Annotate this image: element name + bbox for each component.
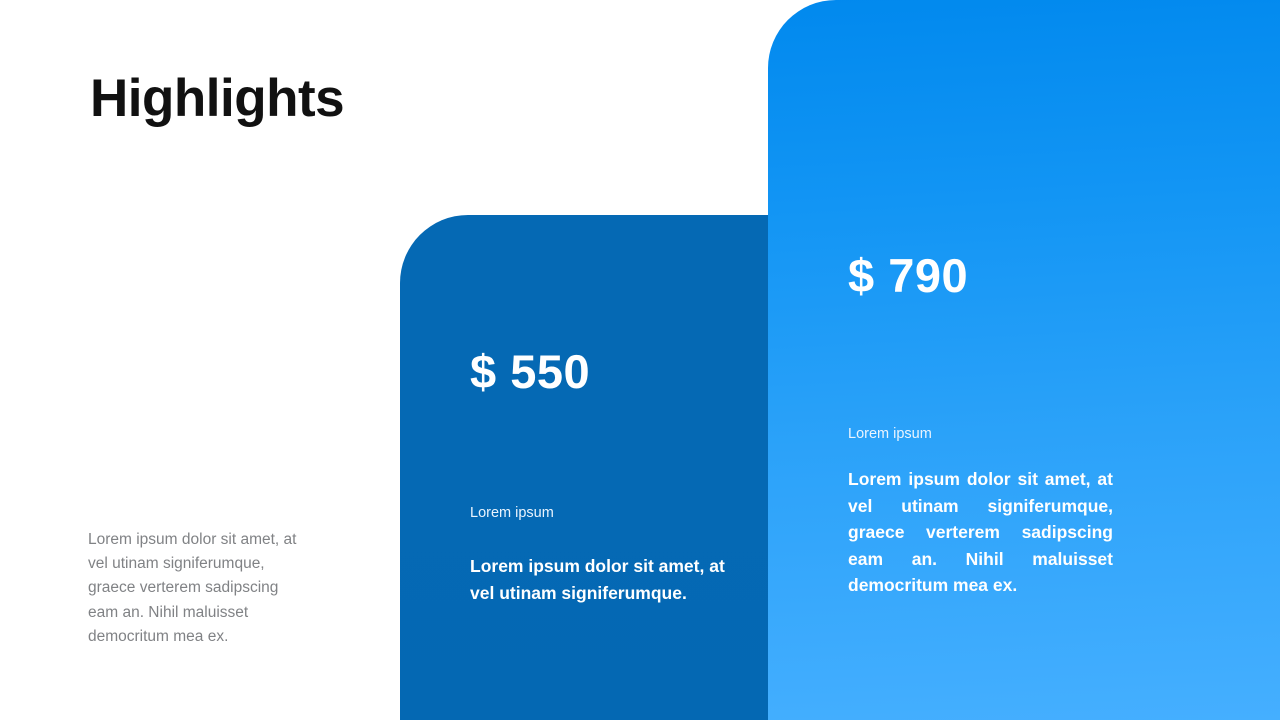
card-label-secondary: Lorem ipsum <box>470 505 554 522</box>
slide-canvas: Highlights Lorem ipsum dolor sit amet, a… <box>0 0 1280 720</box>
highlight-card-secondary[interactable]: $ 550 Lorem ipsum Lorem ipsum dolor sit … <box>400 215 768 720</box>
card-body-primary: Lorem ipsum dolor sit amet, at vel utina… <box>848 466 1113 599</box>
intro-paragraph: Lorem ipsum dolor sit amet, at vel utina… <box>88 528 303 649</box>
card-price-790: $ 790 <box>848 252 968 299</box>
highlight-card-primary[interactable]: $ 790 Lorem ipsum Lorem ipsum dolor sit … <box>768 0 1280 720</box>
card-price-550: $ 550 <box>470 348 590 395</box>
card-label-primary: Lorem ipsum <box>848 426 932 443</box>
page-title: Highlights <box>90 70 344 128</box>
card-body-secondary: Lorem ipsum dolor sit amet, at vel utina… <box>470 553 725 606</box>
